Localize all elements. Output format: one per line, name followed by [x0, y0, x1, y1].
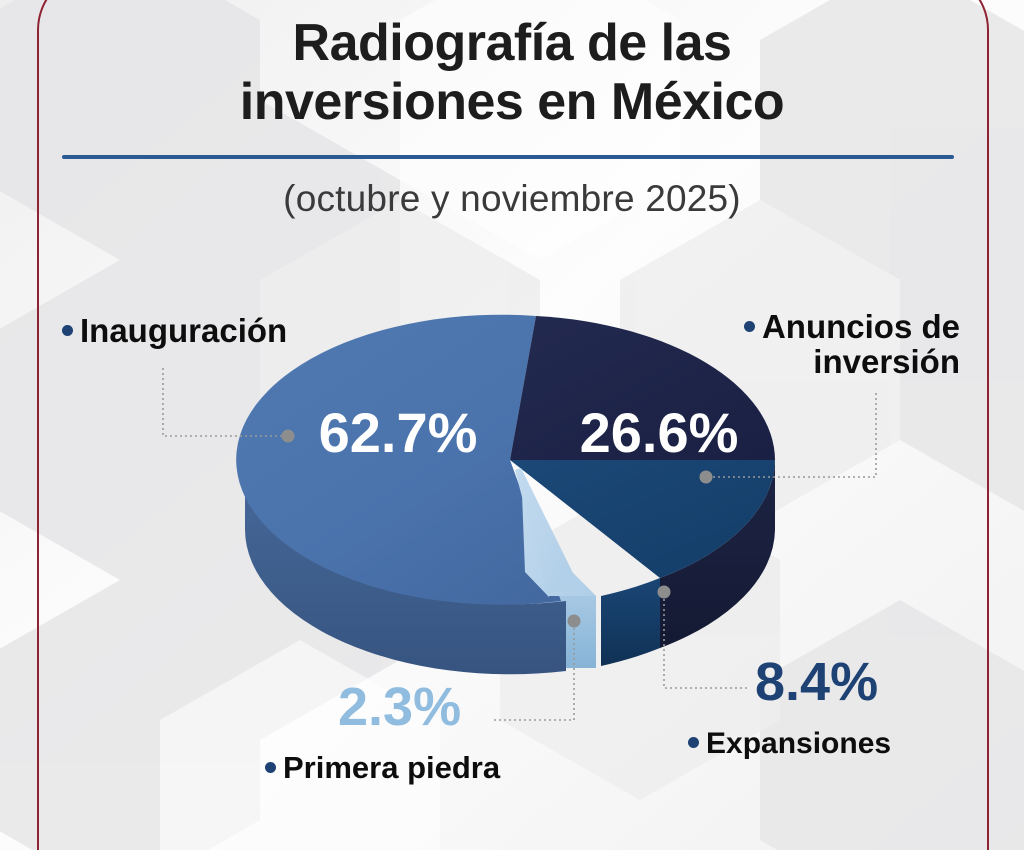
- callout-primera-piedra: Primera piedra: [265, 752, 500, 785]
- pct-label-primera-piedra: 2.3%: [338, 680, 461, 734]
- callout-expansiones: Expansiones: [688, 728, 891, 760]
- slice-top-primera-piedra: [515, 468, 596, 597]
- leader-anchor-dots: [282, 430, 713, 628]
- bullet-icon: [265, 762, 276, 773]
- page-subtitle: (octubre y noviembre 2025): [62, 178, 962, 220]
- header: Radiografía de las inversiones en México: [62, 14, 962, 132]
- callout-anuncios-line2: inversión: [690, 345, 960, 380]
- callout-inauguracion: Inauguración: [62, 314, 287, 349]
- slice-top-expansiones: [510, 460, 775, 578]
- bullet-icon: [62, 325, 73, 336]
- callout-inauguracion-text: Inauguración: [80, 312, 287, 349]
- title-divider: [62, 155, 954, 159]
- pct-label-expansiones: 8.4%: [755, 655, 878, 709]
- callout-anuncios-line1: Anuncios de: [762, 308, 960, 345]
- slice-side-anuncios: [660, 460, 775, 648]
- infographic-canvas: Radiografía de las inversiones en México…: [0, 0, 1024, 850]
- slice-top-inauguracion: [236, 315, 561, 605]
- page-title: Radiografía de las inversiones en México: [62, 14, 962, 132]
- callout-expansiones-text: Expansiones: [706, 727, 891, 760]
- slice-side-primera-piedra: [525, 572, 596, 668]
- slice-side-inauguracion: [245, 460, 566, 674]
- slice-side-expansiones: [601, 578, 660, 666]
- bullet-icon: [744, 321, 755, 332]
- pct-label-inauguracion: 62.7%: [319, 401, 478, 464]
- callout-anuncios: Anuncios de inversión: [690, 310, 960, 379]
- pct-label-anuncios: 26.6%: [580, 401, 739, 464]
- callout-primera-piedra-text: Primera piedra: [283, 750, 500, 785]
- bullet-icon: [688, 737, 699, 748]
